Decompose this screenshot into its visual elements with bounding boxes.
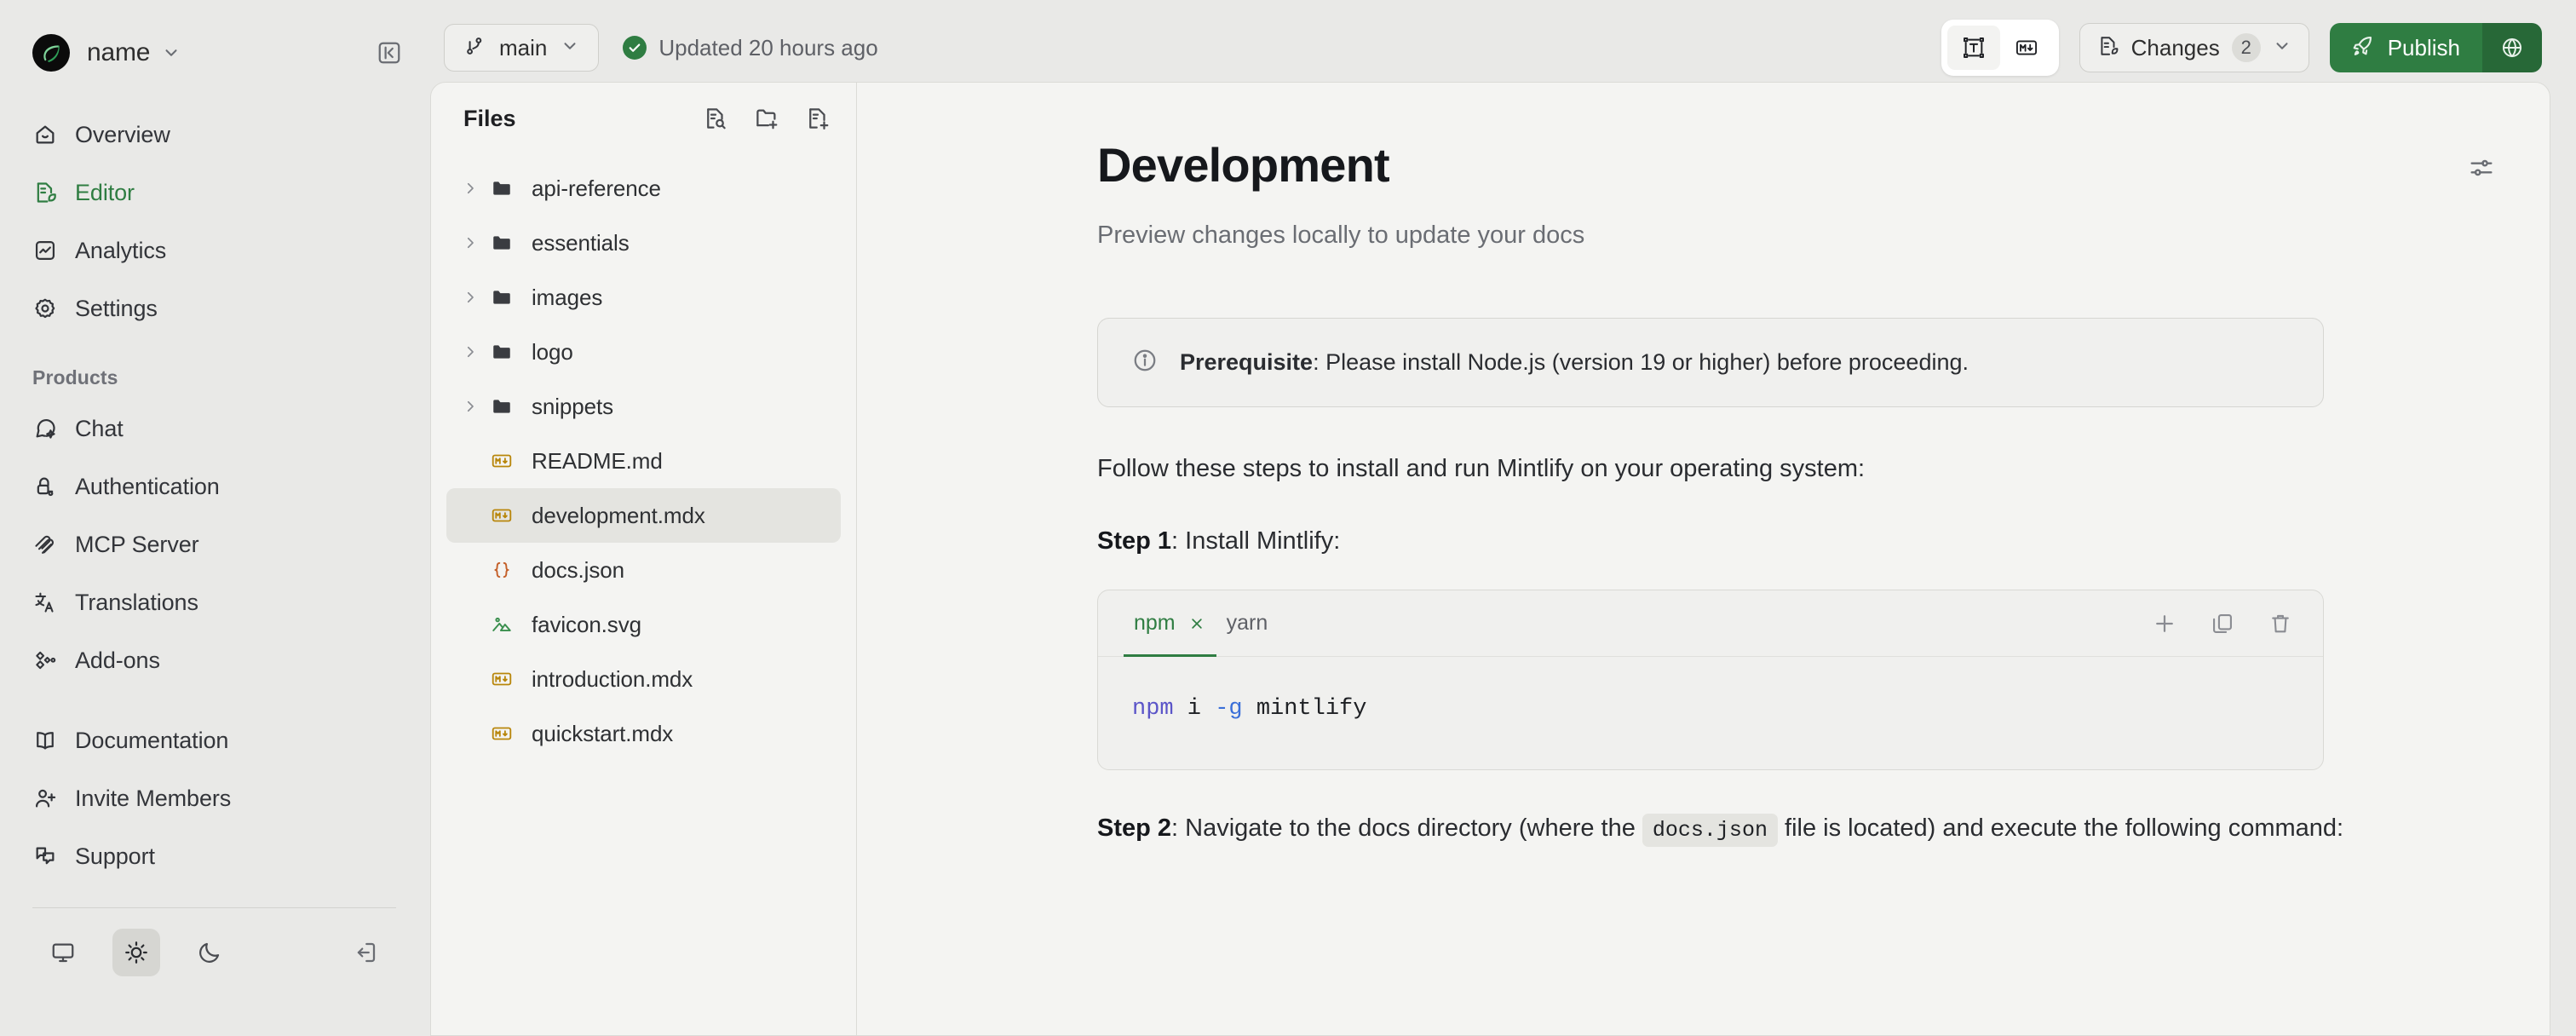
step1-rest: : Install Mintlify: [1171,527,1340,555]
sliders-icon[interactable] [2464,151,2498,185]
tree-row[interactable]: logo [446,325,841,379]
book-icon [32,728,58,753]
publish-button[interactable]: Publish [2330,23,2482,72]
sidebar-item-authentication[interactable]: Authentication [24,458,405,515]
sidebar-item-label: Translations [75,590,198,616]
main-panel: main Updated 20 hours ago [430,0,2576,1036]
file-search-icon[interactable] [701,104,730,133]
code-tab-label: yarn [1227,611,1268,636]
step2-part1: : Navigate to the docs directory (where … [1171,814,1642,842]
file-explorer-header: Files [446,83,841,154]
publish-label: Publish [2388,35,2460,61]
chevron-right-icon [458,181,482,196]
home-icon [32,122,58,147]
code-token-args: i [1174,696,1216,722]
sidebar-item-label: Authentication [75,474,220,500]
leaf-logo [32,34,70,72]
code-tab-npm[interactable]: npm [1124,590,1216,657]
copy-icon[interactable] [2209,610,2236,637]
markdown-file-icon [487,504,516,527]
logout-icon[interactable] [345,932,386,973]
folder-plus-icon[interactable] [752,104,781,133]
document-editor: Development Preview changes locally to u… [857,83,2550,1035]
content-card: Files [430,82,2550,1036]
light-theme-button[interactable] [112,929,160,976]
puzzle-diamond-icon [32,647,58,673]
sidebar-item-label: Invite Members [75,786,231,812]
callout-text: Prerequisite: Please install Node.js (ve… [1180,349,1969,376]
markdown-file-icon [487,668,516,690]
sidebar-item-analytics[interactable]: Analytics [24,222,405,279]
code-tab-yarn[interactable]: yarn [1216,590,1279,657]
chevron-down-icon[interactable] [162,43,181,62]
tree-item-label: introduction.mdx [532,666,693,693]
tree-row[interactable]: essentials [446,216,841,270]
branch-selector[interactable]: main [444,24,599,72]
trash-icon[interactable] [2267,610,2294,637]
dark-theme-button[interactable] [186,929,233,976]
file-edit-icon [2097,35,2119,61]
markdown-file-icon [487,722,516,745]
sidebar-footer [24,908,405,997]
toolbar-right: Changes 2 Publish [1941,20,2542,76]
prerequisite-callout: Prerequisite: Please install Node.js (ve… [1097,318,2324,407]
sidebar-item-label: Documentation [75,728,228,754]
code-token-flag: -g [1215,696,1242,722]
globe-icon[interactable] [2482,23,2542,72]
sidebar-item-invite-members[interactable]: Invite Members [24,769,405,827]
tree-item-label: favicon.svg [532,612,641,638]
sidebar-item-label: MCP Server [75,532,199,558]
code-block: npm yarn [1097,590,2324,770]
tree-row[interactable]: api-reference [446,161,841,216]
tree-item-label: essentials [532,230,630,256]
tree-row[interactable]: docs.json [446,543,841,597]
sidebar-item-settings[interactable]: Settings [24,279,405,337]
markdown-icon[interactable] [2000,26,2053,70]
app-root: name Overview Editor [0,0,2576,1036]
plus-icon[interactable] [2151,610,2178,637]
update-status-text: Updated 20 hours ago [658,35,877,61]
page-title: Development [1097,137,2447,193]
sidebar-item-label: Overview [75,122,170,148]
step2-paragraph: Step 2: Navigate to the docs directory (… [1097,814,2447,843]
sidebar-item-mcp-server[interactable]: MCP Server [24,515,405,573]
sidebar-item-translations[interactable]: Translations [24,573,405,631]
tree-item-label: logo [532,339,573,365]
tree-row[interactable]: snippets [446,379,841,434]
lock-key-icon [32,474,58,499]
rocket-icon [2350,34,2374,62]
translate-icon [32,590,58,615]
tree-item-label: development.mdx [532,503,705,529]
changes-count-badge: 2 [2232,33,2261,62]
sidebar-item-label: Editor [75,180,135,206]
folder-icon [487,286,516,308]
image-file-icon [487,613,516,636]
org-name: name [87,38,150,67]
tree-item-label: snippets [532,394,613,420]
tree-row[interactable]: development.mdx [446,488,841,543]
tree-item-label: api-reference [532,176,661,202]
code-tabs: npm yarn [1098,590,2323,657]
callout-rest: : Please install Node.js (version 19 or … [1313,349,1969,375]
tree-item-label: docs.json [532,557,624,584]
chat-bubbles-icon [32,843,58,869]
folder-icon [487,341,516,363]
files-title: Files [463,106,516,132]
sidebar-item-label: Settings [75,296,158,322]
publish-group: Publish [2330,23,2542,72]
sidebar-item-overview[interactable]: Overview [24,106,405,164]
tree-row[interactable]: favicon.svg [446,597,841,652]
code-tab-label: npm [1134,611,1176,636]
chat-sparkle-icon [32,416,58,441]
sidebar-item-documentation[interactable]: Documentation [24,711,405,769]
chevron-right-icon [458,344,482,360]
code-content[interactable]: npm i -g mintlify [1098,657,2323,769]
changes-button[interactable]: Changes 2 [2079,23,2309,72]
step1-bold: Step 1 [1097,527,1171,555]
json-file-icon [487,559,516,581]
tree-item-label: images [532,285,602,311]
tree-item-label: quickstart.mdx [532,721,673,747]
panel-collapse-icon[interactable] [374,37,405,68]
sidebar-item-add-ons[interactable]: Add-ons [24,631,405,689]
check-circle-icon [623,36,647,60]
info-icon [1132,348,1158,377]
visual-frame-icon[interactable] [1947,26,2000,70]
inline-code-docs-json: docs.json [1642,814,1778,847]
chevron-down-icon [561,37,579,60]
git-branch-icon [463,35,486,61]
document-body: Development Preview changes locally to u… [857,83,2550,843]
tree-row[interactable]: images [446,270,841,325]
secondary-nav: Documentation Invite Members Support [24,711,405,885]
step1-paragraph: Step 1: Install Mintlify: [1097,527,2447,555]
file-explorer-actions [701,104,832,133]
sidebar-spacer [24,689,405,711]
markdown-file-icon [487,450,516,472]
code-token-package: mintlify [1243,696,1367,722]
chevron-right-icon [458,235,482,250]
primary-nav: Overview Editor Analytics Settings [24,106,405,337]
chevron-right-icon [458,290,482,305]
products-section-title: Products [24,366,405,389]
close-icon[interactable] [1187,614,1206,633]
sidebar: name Overview Editor [0,0,430,1036]
changes-label: Changes [2131,35,2220,61]
toolbar: main Updated 20 hours ago [430,15,2550,80]
chevron-right-icon [458,399,482,414]
sidebar-item-chat[interactable]: Chat [24,400,405,458]
branch-name: main [499,35,547,61]
file-plus-icon[interactable] [803,104,832,133]
tree-row[interactable]: quickstart.mdx [446,706,841,761]
sidebar-item-support[interactable]: Support [24,827,405,885]
page-subtitle: Preview changes locally to update your d… [1097,222,2447,250]
chevron-down-icon [2273,37,2291,60]
tree-row[interactable]: introduction.mdx [446,652,841,706]
sidebar-item-label: Chat [75,416,124,442]
file-explorer: Files [431,83,857,1035]
folder-icon [487,177,516,199]
code-tools [2151,610,2294,637]
update-status: Updated 20 hours ago [623,35,877,61]
folder-icon [487,232,516,254]
callout-bold: Prerequisite [1180,349,1313,375]
gear-icon [32,296,58,321]
folder-icon [487,395,516,417]
mcp-icon [32,532,58,557]
intro-paragraph: Follow these steps to install and run Mi… [1097,455,2447,483]
sidebar-item-label: Analytics [75,238,166,264]
user-plus-icon [32,786,58,811]
sidebar-item-label: Add-ons [75,647,160,674]
code-token-command: npm [1132,696,1174,722]
org-switcher[interactable]: name [24,0,405,106]
file-tree: api-reference essentials images [446,154,841,761]
editor-mode-toggle [1941,20,2059,76]
step2-bold: Step 2 [1097,814,1171,842]
tree-row[interactable]: README.md [446,434,841,488]
tree-item-label: README.md [532,448,663,475]
sidebar-item-editor[interactable]: Editor [24,164,405,222]
file-edit-icon [32,180,58,205]
system-theme-button[interactable] [39,929,87,976]
chart-square-icon [32,238,58,263]
products-nav: Chat Authentication MCP Server Translati… [24,400,405,689]
sidebar-item-label: Support [75,843,155,870]
step2-part2: file is located) and execute the followi… [1778,814,2343,842]
